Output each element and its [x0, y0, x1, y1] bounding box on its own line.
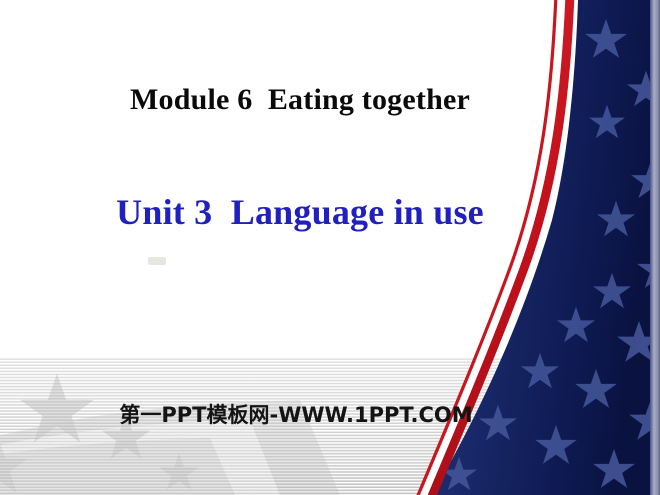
- gray-corner-stars: [0, 374, 199, 494]
- site-watermark: 第一PPT模板网-WWW.1PPT.COM: [0, 402, 592, 428]
- module-title: Module 6 Eating together: [0, 82, 600, 118]
- unit-title: Unit 3 Language in use: [0, 191, 600, 233]
- faint-artifact-mark: [148, 257, 166, 265]
- gray-corner-decor: [0, 374, 340, 495]
- presentation-slide: Module 6 Eating together Unit 3 Language…: [0, 0, 660, 495]
- banner-right-edge-strip: [650, 0, 660, 495]
